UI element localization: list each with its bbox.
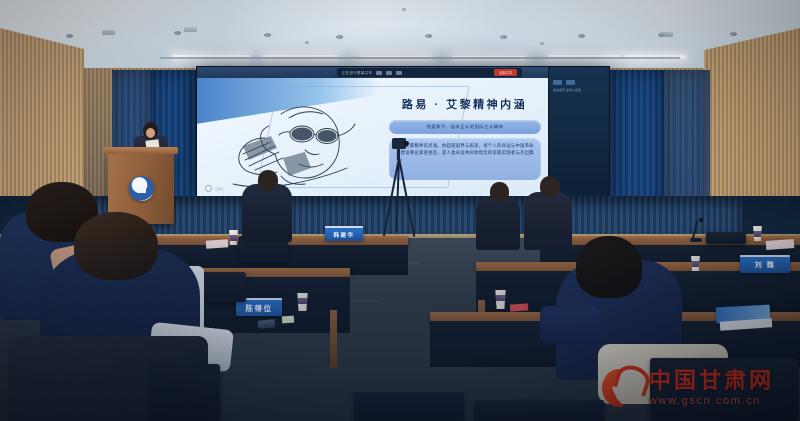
ceiling-spotlight-icon [402, 8, 406, 11]
light-rail [160, 57, 680, 59]
attendee-7-head [540, 176, 560, 197]
ceiling-spotlight-icon [730, 32, 737, 36]
speaker-face [146, 128, 155, 138]
meeting-side-panel[interactable]: 会议成员 主持人会控 [548, 67, 609, 197]
tripod-column [397, 148, 400, 160]
ceiling-spotlight-icon [336, 35, 343, 39]
attendee-6-torso [476, 196, 520, 250]
watermark: 中国甘肃网 www.gscn.com.cn [600, 360, 796, 416]
slide-title: 路易 · 艾黎精神内涵 [387, 96, 542, 112]
ceiling-spotlight-icon [264, 33, 271, 37]
pink-document [766, 239, 795, 250]
portrait-illustration [219, 98, 369, 193]
participant-tile[interactable] [566, 80, 575, 85]
pink-document [206, 239, 229, 249]
slide-footer-icon [205, 185, 212, 192]
retractable-monitor [474, 400, 604, 421]
camera-lens-icon [404, 141, 409, 146]
ceiling-spotlight-icon [305, 41, 309, 44]
watermark-text: 中国甘肃网 www.gscn.com.cn [649, 370, 774, 407]
presentation-slide: 路易 · 艾黎精神内涵 热爱和平、追求正义的国际主义精神 这是艾黎精神的灵魂。他… [197, 78, 549, 197]
screen-share-toolbar[interactable]: 正在进行屏幕共享 结束共享 [337, 68, 522, 77]
retractable-monitor [354, 392, 464, 421]
desk-leg [330, 310, 337, 368]
ceiling-spotlight-icon [540, 42, 544, 45]
ceiling-spotlight-icon [174, 31, 181, 35]
ceiling-spotlight-icon [425, 34, 432, 38]
ceiling-vent [660, 32, 673, 37]
attendee-5-arm [540, 306, 600, 344]
slide-body-text: 这是艾黎精神的灵魂。他超越国界与民族，将个人的命运与中国革命和建设事业紧密相连，… [389, 138, 541, 180]
ceiling-spotlight-icon [66, 34, 73, 38]
attendee-5-head [576, 236, 642, 298]
ceiling-spotlight-icon [578, 34, 585, 38]
slide-footer: 汇报人 [205, 185, 224, 192]
screenshot-root: 正在进行屏幕共享 结束共享 [0, 0, 800, 421]
red-document [510, 303, 528, 311]
microphone-icon[interactable] [386, 71, 392, 75]
participant-tile-row [553, 80, 575, 85]
gansu-net-logo [600, 366, 644, 410]
attendee-1-head [74, 212, 158, 280]
watermark-brand: 中国甘肃网 [649, 370, 774, 392]
attendee-7-torso [524, 192, 572, 250]
side-panel-label: 会议成员 主持人会控 [553, 88, 581, 92]
nameplate-right: 刘 魏 [740, 255, 790, 273]
ceiling-vent [102, 30, 115, 35]
podium-top-surface [104, 147, 178, 154]
nameplate-front-left-label: 陈得位 [246, 303, 273, 314]
institution-emblem [129, 176, 154, 201]
toolbar-status-text: 正在进行屏幕共享 [342, 70, 372, 75]
watermark-url: www.gscn.com.cn [649, 396, 774, 407]
nameplate-mid-left-label: 韩建华 [333, 231, 354, 239]
camera-icon[interactable] [376, 71, 382, 75]
slide-footer-label: 汇报人 [215, 187, 224, 191]
share-icon[interactable] [396, 71, 402, 75]
small-note [282, 316, 294, 324]
slide-subtitle-pill: 热爱和平、追求正义的国际主义精神 [389, 120, 541, 134]
chair-back [150, 364, 220, 421]
attendee-6-head [490, 182, 509, 202]
ceiling-spotlight-icon [500, 35, 507, 39]
retractable-monitor [706, 232, 746, 244]
logo-arc [613, 361, 653, 396]
ceiling-vent [184, 27, 197, 32]
microphone-head-icon [699, 218, 703, 222]
attendee-4-torso [242, 184, 292, 242]
end-share-button[interactable]: 结束共享 [494, 69, 517, 76]
nameplate-mid-left: 韩建华 [325, 226, 363, 241]
nameplate-right-label: 刘 魏 [755, 260, 775, 270]
attendee-4-head [258, 170, 278, 191]
participant-tile[interactable] [553, 80, 562, 85]
